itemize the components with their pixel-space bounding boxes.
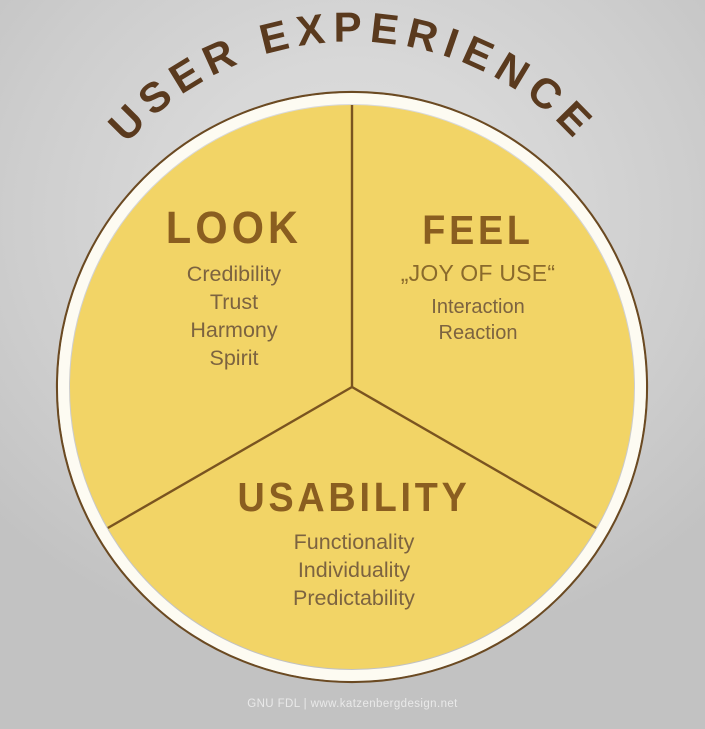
sector-usability[interactable]: USABILITY Functionality Individuality Pr… — [196, 477, 512, 613]
sector-look-item-1: Credibility — [118, 261, 350, 289]
sector-look[interactable]: LOOK Credibility Trust Harmony Spirit — [118, 205, 350, 373]
user-experience-circle-diagram: USER EXPERIENCE — [0, 0, 705, 729]
sector-feel-item-1: Interaction — [362, 294, 594, 320]
sector-look-item-2: Trust — [118, 289, 350, 317]
sector-look-heading: LOOK — [127, 205, 340, 250]
sector-look-item-3: Harmony — [118, 317, 350, 345]
sector-look-items: Credibility Trust Harmony Spirit — [118, 261, 350, 373]
sector-look-item-4: Spirit — [118, 345, 350, 373]
sector-feel-quote: „JOY OF USE“ — [362, 260, 594, 288]
sector-usability-item-1: Functionality — [196, 529, 512, 557]
sector-usability-heading: USABILITY — [209, 477, 500, 518]
footer-credit[interactable]: GNU FDL | www.katzenbergdesign.net — [0, 698, 705, 710]
sector-feel[interactable]: FEEL „JOY OF USE“ Interaction Reaction — [362, 210, 594, 346]
sector-feel-heading: FEEL — [371, 210, 584, 251]
diagram-stage: USER EXPERIENCE LOOK Credibility Trust H… — [0, 0, 705, 729]
sector-feel-item-2: Reaction — [362, 320, 594, 346]
sector-feel-items: Interaction Reaction — [362, 294, 594, 346]
sector-usability-items: Functionality Individuality Predictabili… — [196, 529, 512, 613]
sector-usability-item-2: Individuality — [196, 557, 512, 585]
sector-usability-item-3: Predictability — [196, 585, 512, 613]
